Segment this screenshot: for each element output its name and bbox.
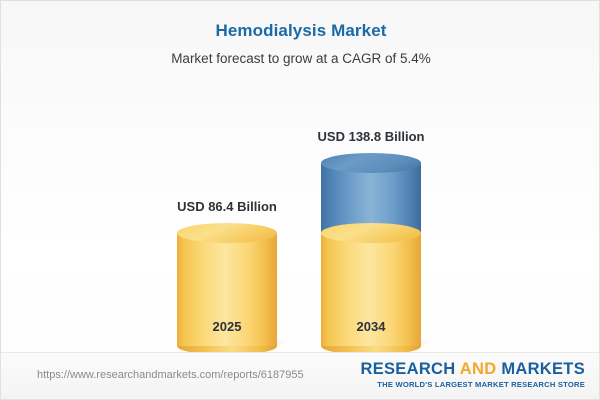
bar-value-label-2025: USD 86.4 Billion xyxy=(132,199,322,214)
page-title: Hemodialysis Market xyxy=(1,21,600,41)
chart-subtitle: Market forecast to grow at a CAGR of 5.4… xyxy=(1,51,600,66)
report-url[interactable]: https://www.researchandmarkets.com/repor… xyxy=(37,369,304,381)
cylinder-cap-2025 xyxy=(177,223,277,243)
bar-group-2034: USD 138.8 Billion xyxy=(321,111,421,346)
cylinder-2034 xyxy=(321,154,421,346)
chart-infographic: Hemodialysis Market Market forecast to g… xyxy=(0,0,600,400)
axis-label-2025: 2025 xyxy=(177,319,277,334)
brand-tagline: THE WORLD'S LARGEST MARKET RESEARCH STOR… xyxy=(360,380,585,389)
brand-word-and: AND xyxy=(460,360,502,378)
brand-word-research: RESEARCH xyxy=(360,360,459,378)
footer-bar: https://www.researchandmarkets.com/repor… xyxy=(1,352,599,399)
cylinder-cap-2034 xyxy=(321,153,421,173)
axis-label-2034: 2034 xyxy=(321,319,421,334)
brand-logo[interactable]: RESEARCH AND MARKETS THE WORLD'S LARGEST… xyxy=(360,361,585,389)
brand-word-markets: MARKETS xyxy=(501,360,585,378)
plot-area: USD 86.4 Billion 2025 USD 138.8 Billion xyxy=(1,76,600,346)
bar-group-2025: USD 86.4 Billion xyxy=(177,111,277,346)
brand-name: RESEARCH AND MARKETS xyxy=(360,361,585,378)
bar-value-label-2034: USD 138.8 Billion xyxy=(276,129,466,144)
cylinder-segment-divider-2034 xyxy=(321,223,421,243)
